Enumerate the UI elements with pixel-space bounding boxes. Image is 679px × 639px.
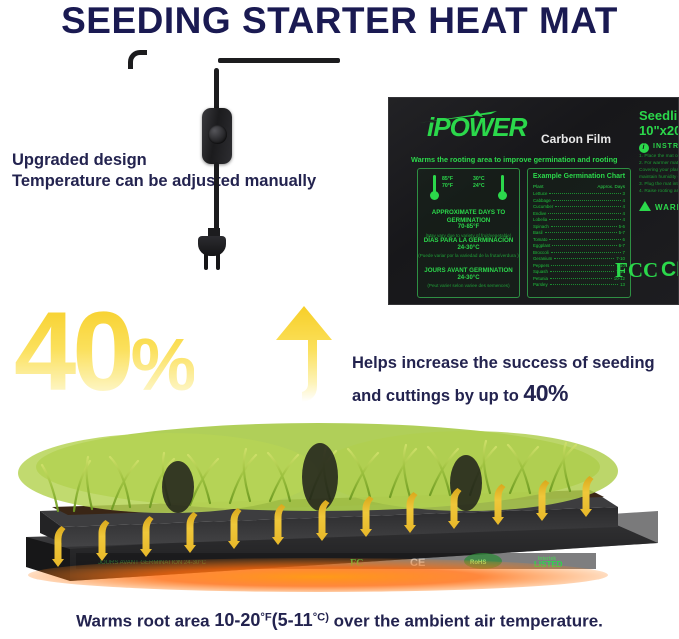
instructions-label: INSTRUCTIONS bbox=[653, 143, 679, 150]
block-title: APPROXIMATE DAYS TO bbox=[418, 209, 519, 217]
block-note: (Peut varier selon variee des semences) bbox=[418, 282, 519, 290]
chart-row-leader bbox=[555, 206, 620, 207]
block-degrees: 24-30°C bbox=[418, 245, 519, 253]
chart-row-leader bbox=[554, 258, 614, 259]
block-title: JOURS AVANT GERMINATION bbox=[418, 267, 519, 275]
warning-heading: WARNING bbox=[639, 201, 679, 212]
temp-c-high: 30°C bbox=[473, 176, 485, 182]
big-percent-number: 40% bbox=[14, 300, 194, 417]
bottom-suffix: over the ambient air temperature. bbox=[329, 611, 603, 630]
helper-line-2-emphasis: 40% bbox=[523, 380, 568, 406]
ce-certification-logo: CE bbox=[661, 258, 679, 282]
instruction-step: 2. For warmer mat temperature use a humi… bbox=[639, 160, 679, 167]
block-title: DÍAS PARA LA GERMINACIÓN bbox=[418, 237, 519, 245]
inline-temperature-controller bbox=[202, 108, 232, 164]
block-degrees: 70-85°F bbox=[418, 224, 519, 232]
instruction-step: 3. Plug the mat into a 120V grounded out… bbox=[639, 181, 679, 188]
chart-row-leader bbox=[550, 278, 612, 279]
chart-row-leader bbox=[548, 213, 620, 214]
instruction-steps: 1. Place the mat on a well ventilated le… bbox=[639, 153, 679, 195]
temp-label-fahrenheit: 85°F 70°F bbox=[442, 176, 453, 190]
fcc-certification-logo: FCC bbox=[615, 258, 658, 283]
bottom-deg-c: °C) bbox=[313, 612, 329, 624]
panel-heading-seedling: Seedling bbox=[639, 108, 679, 123]
instruction-step: maintain humidity control and heat. bbox=[639, 174, 679, 181]
percent-symbol: % bbox=[131, 323, 195, 406]
instructions-column: Seedling 10"x20.7" iINSTRUCTIONS 1. Plac… bbox=[639, 108, 679, 212]
chart-row-leader bbox=[551, 252, 621, 253]
germination-block-english: APPROXIMATE DAYS TO GERMINATION 70-85°F … bbox=[418, 209, 519, 239]
temp-c-low: 24°C bbox=[473, 183, 485, 189]
instruction-step: Covering your plant tray with a humidity… bbox=[639, 167, 679, 174]
temp-f-low: 70°F bbox=[442, 183, 453, 189]
bottom-deg-f: °F bbox=[260, 612, 271, 624]
chart-row-leader bbox=[553, 200, 621, 201]
panel-tagline: Warms the rooting area to improve germin… bbox=[411, 155, 618, 164]
chart-header-row: Plant Approx. Days bbox=[533, 184, 625, 189]
forty-percent-graphic: 40% bbox=[14, 300, 334, 415]
chart-row-leader bbox=[545, 232, 617, 233]
bottom-range-c: (5-11 bbox=[272, 610, 313, 630]
thermometer-icon-left bbox=[430, 175, 439, 201]
chart-col-plant: Plant bbox=[533, 184, 543, 189]
germination-temperature-box: 85°F 70°F 30°C 24°C APPROXIMATE DAYS TO … bbox=[417, 168, 520, 298]
chart-row: Parsley13 bbox=[533, 282, 625, 289]
cord-segment-upper bbox=[214, 68, 219, 112]
temp-label-celsius: 30°C 24°C bbox=[473, 176, 485, 190]
chart-rows: Lettuce3Cabbage4Cucumber4Endive4Lobelia4… bbox=[533, 191, 625, 289]
chart-row-leader bbox=[551, 226, 617, 227]
up-arrow-icon bbox=[272, 304, 336, 404]
plug-prong-left bbox=[204, 254, 208, 270]
chart-row-leader bbox=[551, 265, 614, 266]
bottom-temp-range: 10-20°F(5-11°C) bbox=[214, 610, 329, 630]
info-icon: i bbox=[639, 143, 649, 153]
instruction-step: 4. Raise rooting area temperature 10-20°… bbox=[639, 188, 679, 195]
chart-row-plant: Parsley bbox=[533, 282, 548, 289]
chart-col-days: Approx. Days bbox=[597, 184, 625, 189]
bottom-caption: Warms root area 10-20°F(5-11°C) over the… bbox=[0, 600, 679, 639]
block-degrees: 24-30°C bbox=[418, 275, 519, 283]
panel-heading-size: 10"x20.7" bbox=[639, 123, 679, 138]
product-type-label: Carbon Film bbox=[541, 132, 611, 146]
warning-label: WARNING bbox=[655, 203, 679, 212]
thermometer-bulb bbox=[498, 191, 507, 200]
chart-row-leader bbox=[549, 219, 620, 220]
instructions-heading: iINSTRUCTIONS bbox=[639, 143, 679, 153]
block-title-2: GERMINATION bbox=[418, 217, 519, 225]
chart-row-leader bbox=[550, 271, 614, 272]
chart-row-leader bbox=[552, 245, 616, 246]
block-note: (Puede variar por la variedad de la frut… bbox=[418, 252, 519, 260]
chart-row-leader bbox=[549, 239, 620, 240]
cord-elbow bbox=[128, 50, 147, 69]
chart-row-leader bbox=[549, 193, 620, 194]
percent-value: 40 bbox=[14, 289, 131, 414]
plug-prong-right bbox=[216, 254, 220, 270]
product-label-panel: iPOWER Carbon Film Warms the rooting are… bbox=[388, 97, 679, 305]
brand-logo-text: iPOWER bbox=[427, 114, 526, 140]
chart-row-leader bbox=[550, 284, 618, 285]
thermometer-bulb bbox=[430, 191, 439, 200]
cord-segment-top bbox=[218, 58, 340, 63]
thermometer-icon-right bbox=[498, 175, 507, 201]
germination-block-french: JOURS AVANT GERMINATION 24-30°C (Peut va… bbox=[418, 267, 519, 290]
helper-line-2: and cuttings by up to 40% bbox=[352, 378, 679, 411]
heat-glow bbox=[28, 558, 608, 592]
power-cord-assembly bbox=[128, 50, 398, 290]
helper-line-2-prefix: and cuttings by up to bbox=[352, 387, 523, 405]
seedling-tray-on-heat-mat-illustration: JOURS AVANT GERMINATION 24-30°C FC CE Ro… bbox=[18, 415, 663, 600]
bottom-range-f: 10-20 bbox=[214, 610, 260, 630]
cord-segment-lower bbox=[214, 162, 219, 234]
germination-block-spanish: DÍAS PARA LA GERMINACIÓN 24-30°C (Puede … bbox=[418, 237, 519, 260]
helper-line-1: Helps increase the success of seeding bbox=[352, 348, 679, 378]
us-plug-body bbox=[198, 236, 226, 256]
helper-text: Helps increase the success of seeding an… bbox=[352, 348, 679, 411]
instruction-step: 1. Place the mat on a well ventilated le… bbox=[639, 153, 679, 160]
page-title: SEEDING STARTER HEAT MAT bbox=[0, 0, 679, 44]
temperature-dial-icon bbox=[208, 125, 227, 144]
bottom-prefix: Warms root area bbox=[76, 611, 214, 630]
temp-f-high: 85°F bbox=[442, 176, 453, 182]
chart-title: Example Germination Chart bbox=[528, 173, 630, 180]
warning-triangle-icon bbox=[639, 201, 651, 211]
